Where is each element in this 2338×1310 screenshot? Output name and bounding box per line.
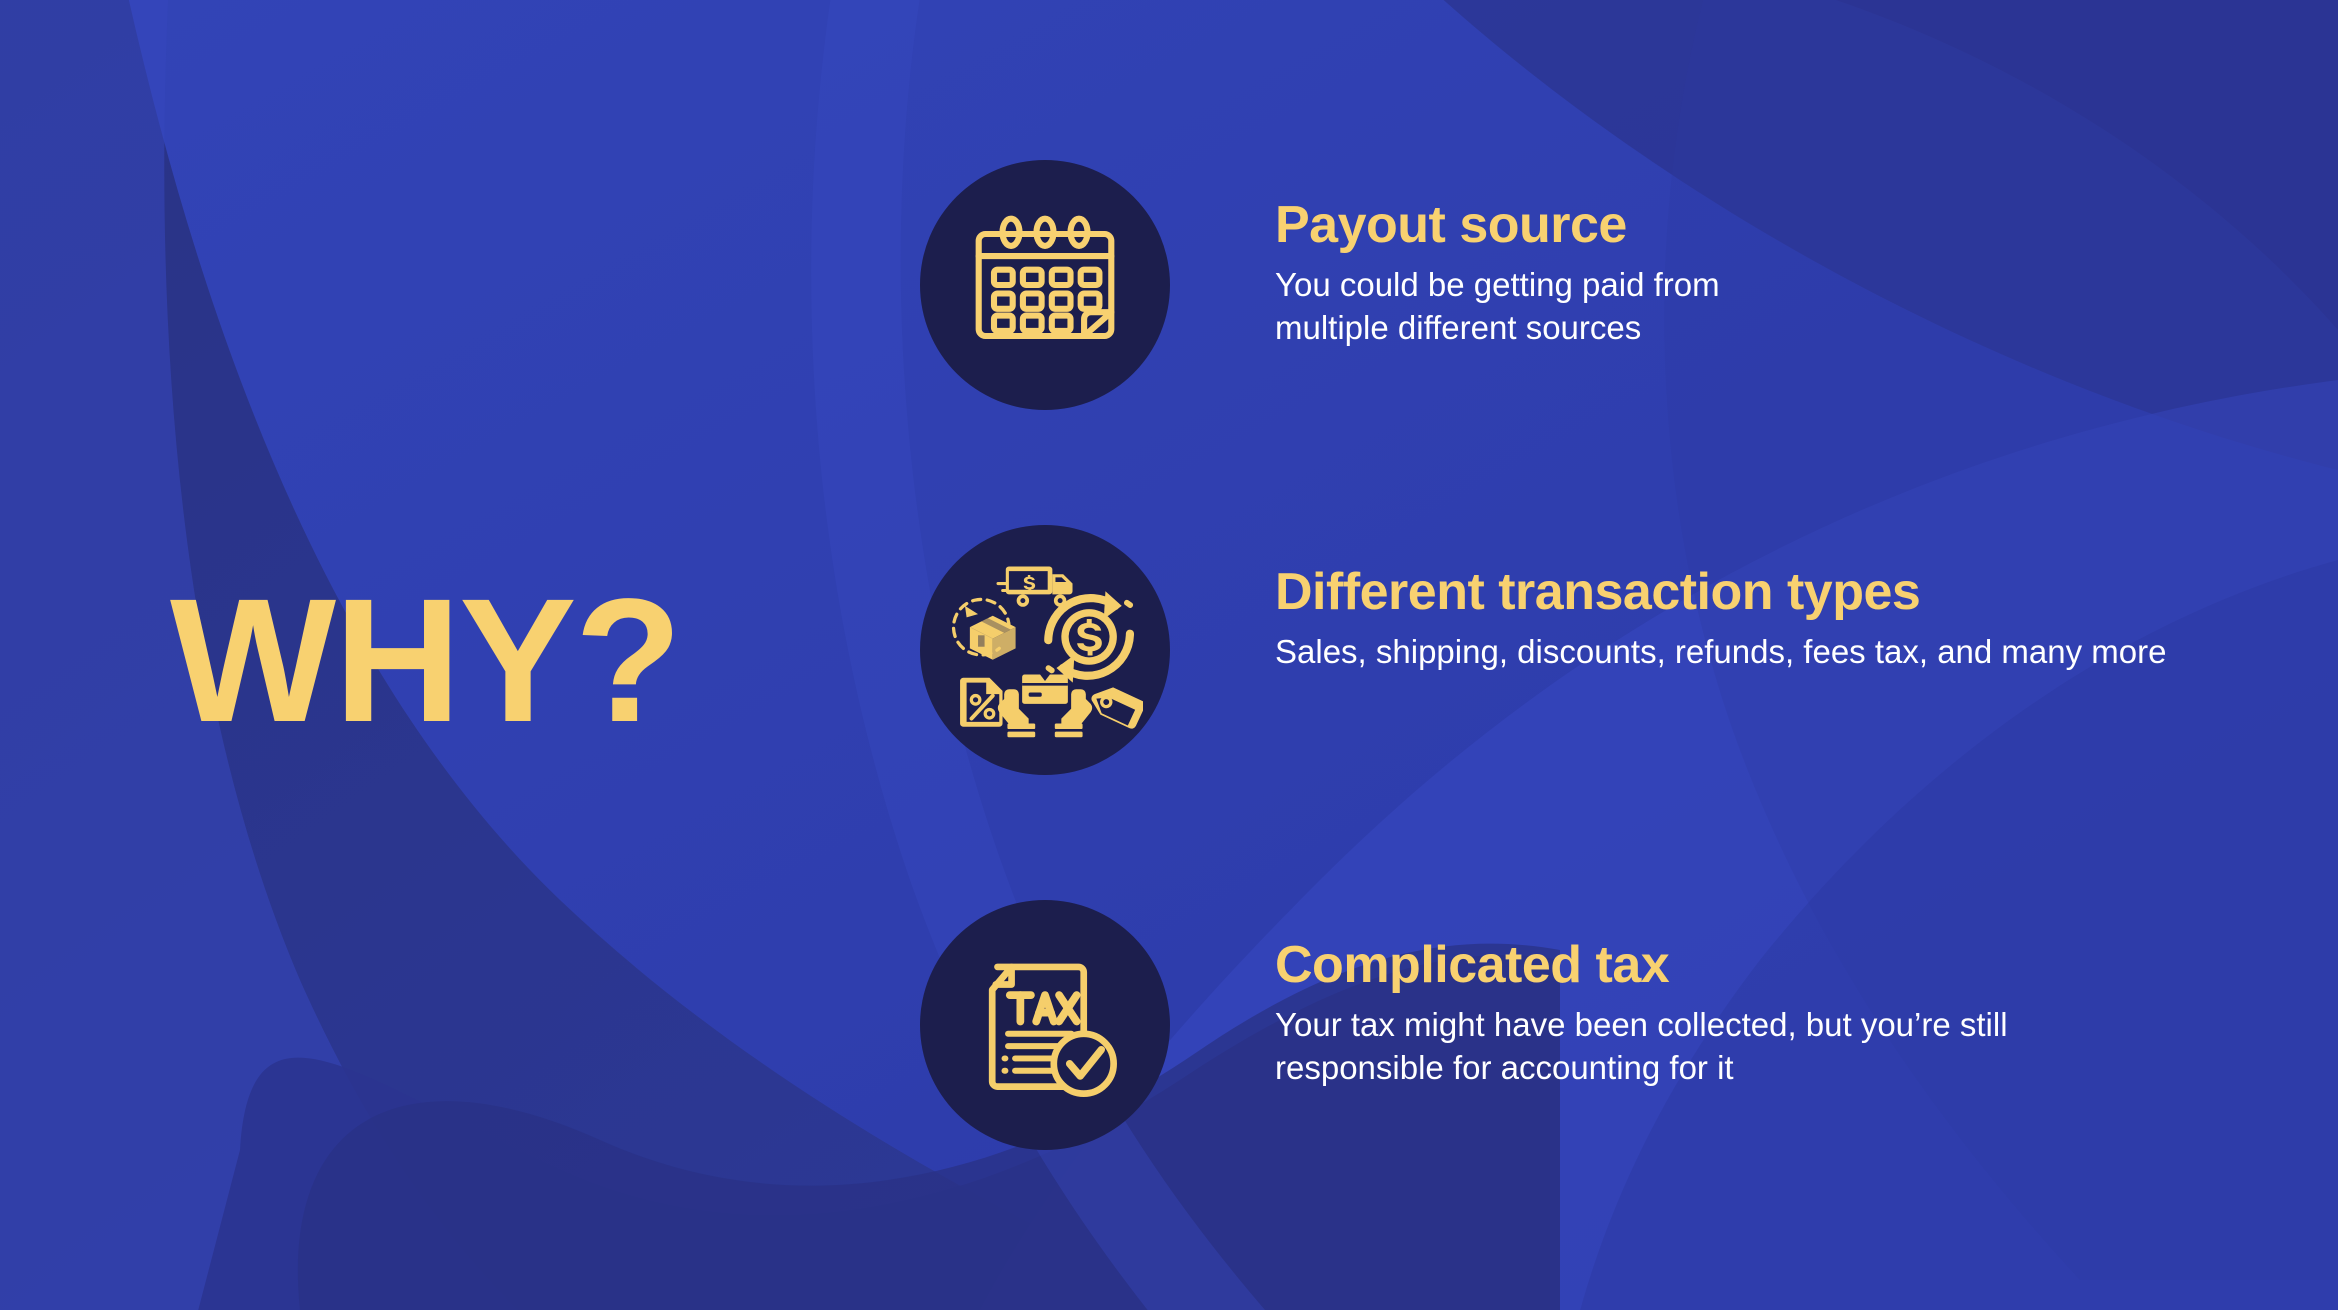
item-body-transaction-types: Sales, shipping, discounts, refunds, fee… (1275, 630, 2166, 674)
presentation-slide: WHY? (0, 0, 2338, 1310)
icon-badge-transaction-types (920, 525, 1170, 775)
list-item: Complicated tax Your tax might have been… (920, 900, 2175, 1150)
calendar-icon (960, 200, 1130, 370)
list-item: Payout source You could be getting paid … (920, 160, 1815, 410)
list-item-text: Complicated tax Your tax might have been… (1275, 900, 2175, 1090)
slide-title-why: WHY? (170, 573, 680, 749)
item-body-payout-source: You could be getting paid from multiple … (1275, 263, 1815, 351)
list-item-text: Payout source You could be getting paid … (1275, 160, 1815, 350)
item-heading-complicated-tax: Complicated tax (1275, 938, 2175, 993)
item-heading-payout-source: Payout source (1275, 198, 1815, 253)
list-item-text: Different transaction types Sales, shipp… (1275, 525, 2166, 673)
tax-document-check-icon (957, 937, 1133, 1113)
item-heading-transaction-types: Different transaction types (1275, 565, 2166, 620)
icon-badge-complicated-tax (920, 900, 1170, 1150)
icon-badge-payout-source (920, 160, 1170, 410)
list-item: Different transaction types Sales, shipp… (920, 525, 2166, 775)
item-body-complicated-tax: Your tax might have been collected, but … (1275, 1003, 2175, 1091)
ecommerce-transactions-icon (947, 552, 1143, 748)
